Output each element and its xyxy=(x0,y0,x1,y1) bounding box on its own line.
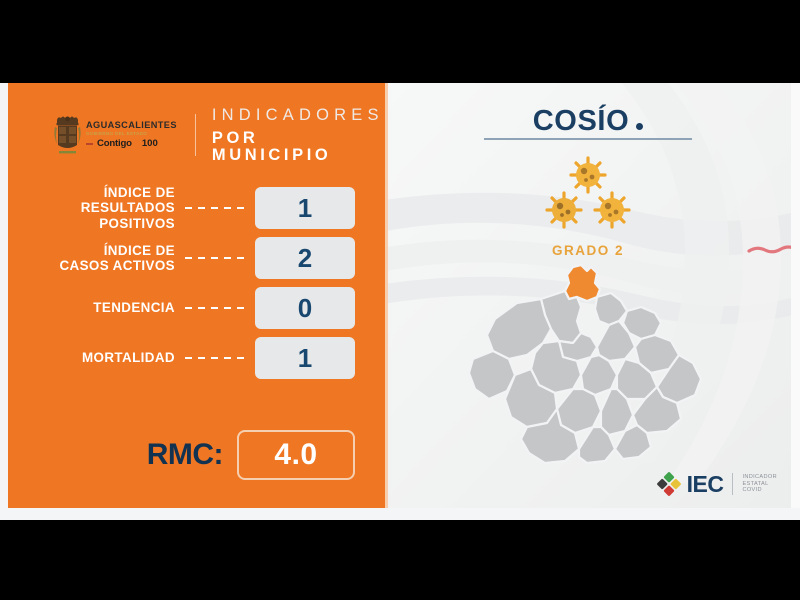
title-underline xyxy=(484,138,692,140)
iec-tagline-line2: ESTATAL xyxy=(742,481,777,488)
program-number: 100 xyxy=(142,139,158,149)
rmc-value: 4.0 xyxy=(274,438,317,472)
wordmark-main: AGUASCALIENTES xyxy=(86,121,177,130)
indicator-value: 1 xyxy=(298,195,312,221)
indicator-list: ÍNDICE DERESULTADOSPOSITIVOS 1 ÍNDICE DE… xyxy=(8,187,385,387)
header-title-line1: INDICADORES xyxy=(212,107,385,124)
dashed-connector xyxy=(185,307,245,309)
indicators-panel: AGUASCALIENTES GOBIERNO DEL ESTADO Conti… xyxy=(8,83,385,508)
indicator-label: TENDENCIA xyxy=(93,300,175,315)
iec-separator xyxy=(732,473,733,495)
indicator-value: 2 xyxy=(298,245,312,271)
iec-tagline-line3: COVID xyxy=(742,487,777,494)
program-dash-icon xyxy=(86,143,93,145)
slide-bottom-gutter xyxy=(0,508,800,520)
dashed-connector xyxy=(185,207,245,209)
slide-left-gutter xyxy=(0,83,8,520)
indicator-value-box: 1 xyxy=(255,337,355,379)
rmc-value-box: 4.0 xyxy=(237,430,355,480)
municipality-name: COSÍO xyxy=(533,105,629,138)
header-title-line2: POR MUNICIPIO xyxy=(212,130,385,163)
iec-diamond-icon xyxy=(657,472,681,496)
indicator-value-box: 2 xyxy=(255,237,355,279)
dashed-connector xyxy=(185,257,245,259)
iec-wordmark: IEC xyxy=(687,473,724,496)
screen: AGUASCALIENTES GOBIERNO DEL ESTADO Conti… xyxy=(0,0,800,600)
government-wordmark: AGUASCALIENTES GOBIERNO DEL ESTADO Conti… xyxy=(86,121,177,149)
indicator-value: 0 xyxy=(298,295,312,321)
rmc-row: RMC: 4.0 xyxy=(8,430,385,480)
indicator-row: TENDENCIA 0 xyxy=(8,287,385,329)
iec-logo: IEC INDICADOR ESTATAL COVID xyxy=(657,472,777,496)
aguascalientes-crest-icon xyxy=(54,114,81,156)
grade-label: GRADO 2 xyxy=(385,243,791,258)
indicator-label: ÍNDICE DECASOS ACTIVOS xyxy=(59,243,175,273)
indicator-label: MORTALIDAD xyxy=(82,350,175,365)
indicator-row: ÍNDICE DERESULTADOSPOSITIVOS 1 xyxy=(8,187,385,229)
wordmark-sub: GOBIERNO DEL ESTADO xyxy=(86,132,177,137)
aguascalientes-municipalities-map xyxy=(469,263,707,468)
indicator-value: 1 xyxy=(298,345,312,371)
indicator-value-box: 0 xyxy=(255,287,355,329)
indicator-value-box: 1 xyxy=(255,187,355,229)
program-row: Contigo 100 xyxy=(86,139,177,149)
map-panel: COSÍO xyxy=(385,83,791,508)
indicator-label: ÍNDICE DERESULTADOSPOSITIVOS xyxy=(81,185,175,230)
government-logo: AGUASCALIENTES GOBIERNO DEL ESTADO Conti… xyxy=(54,114,177,156)
rmc-label: RMC: xyxy=(147,438,223,472)
virus-cluster-icon xyxy=(534,155,642,233)
map-region-cosio xyxy=(565,265,600,301)
red-squiggle-mark xyxy=(747,243,791,255)
dashed-connector xyxy=(185,357,245,359)
header-titles: INDICADORES POR MUNICIPIO xyxy=(212,107,385,164)
indicator-row: ÍNDICE DECASOS ACTIVOS 2 xyxy=(8,237,385,279)
slide-right-gutter xyxy=(791,83,800,520)
iec-tagline: INDICADOR ESTATAL COVID xyxy=(742,474,777,494)
iec-tagline-line1: INDICADOR xyxy=(742,474,777,481)
header-divider xyxy=(195,114,196,156)
program-name: Contigo xyxy=(97,139,132,149)
indicator-row: MORTALIDAD 1 xyxy=(8,337,385,379)
title-dot-icon xyxy=(636,123,643,130)
panel-header: AGUASCALIENTES GOBIERNO DEL ESTADO Conti… xyxy=(8,105,385,165)
municipality-title-wrap: COSÍO xyxy=(385,105,791,138)
presentation-slide: AGUASCALIENTES GOBIERNO DEL ESTADO Conti… xyxy=(0,83,800,520)
